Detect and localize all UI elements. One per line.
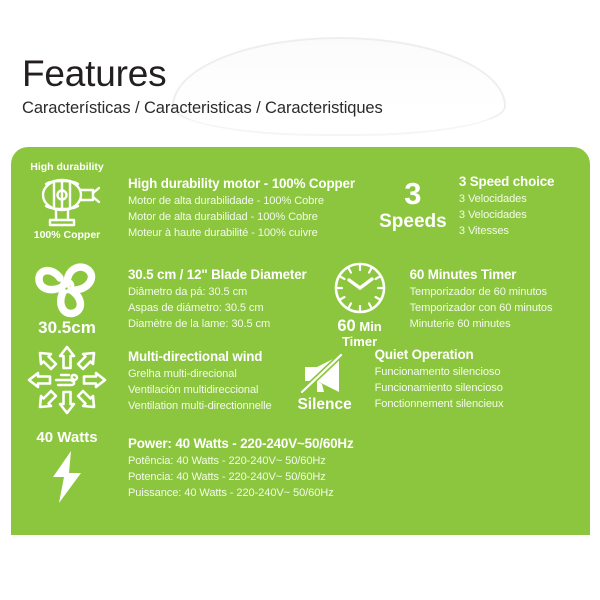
muted-megaphone-icon: Silence xyxy=(286,352,364,413)
feature-heading: Quiet Operation xyxy=(375,347,504,364)
feature-speed-text: 3 Speed choice 3 Velocidades 3 Velocidad… xyxy=(459,174,554,239)
feature-blade-text: 30.5 cm / 12" Blade Diameter Diâmetro da… xyxy=(128,267,307,332)
three-speeds-badge: 3 Speeds xyxy=(379,178,447,231)
page-subtitle: Características / Caracteristicas / Cara… xyxy=(22,99,578,118)
feature-power: 40 Watts Power: 40 Watts - 220-240V~50/6… xyxy=(19,430,354,504)
speeds-number: 3 xyxy=(379,178,447,209)
megaphone-glyph xyxy=(295,352,355,396)
feature-line-pt: 3 Velocidades xyxy=(459,191,554,207)
arrows-glyph xyxy=(26,344,108,416)
lightning-bolt-icon: 40 Watts xyxy=(19,430,115,504)
features-infographic: Features Características / Caracteristic… xyxy=(0,0,600,600)
feature-line-es: Temporizador con 60 minutos xyxy=(410,300,553,316)
feature-timer: 60 Min Timer 60 Minutes Timer Temporizad… xyxy=(321,260,553,348)
feature-silence: Silence Quiet Operation Funcionamento si… xyxy=(286,344,504,413)
feature-motor-text: High durability motor - 100% Copper Moto… xyxy=(128,176,355,241)
icon-caption-top: 40 Watts xyxy=(36,430,97,445)
electric-motor-glyph xyxy=(32,175,102,227)
feature-line-es: Funcionamiento silencioso xyxy=(375,380,504,396)
multi-direction-arrows-icon xyxy=(19,344,115,416)
feature-line-pt: Temporizador de 60 minutos xyxy=(410,284,553,300)
features-panel: High durability xyxy=(11,147,590,535)
feature-timer-text: 60 Minutes Timer Temporizador de 60 minu… xyxy=(410,267,553,332)
feature-line-es: 3 Velocidades xyxy=(459,207,554,223)
feature-line-pt: Diâmetro da pá: 30.5 cm xyxy=(128,284,307,300)
feature-heading: Power: 40 Watts - 220-240V~50/60Hz xyxy=(128,436,354,453)
feature-line-pt: Funcionamento silencioso xyxy=(375,364,504,380)
feature-speed: 3 Speeds 3 Speed choice 3 Velocidades 3 … xyxy=(379,162,554,239)
feature-line-pt: Potência: 40 Watts - 220-240V~ 50/60Hz xyxy=(128,453,354,469)
feature-heading: Multi-directional wind xyxy=(128,349,272,366)
feature-line-fr: Fonctionnement silencieux xyxy=(375,396,504,412)
feature-line-fr: Diamètre de la lame: 30.5 cm xyxy=(128,316,307,332)
feature-silence-text: Quiet Operation Funcionamento silencioso… xyxy=(375,347,504,412)
feature-row-power: 40 Watts Power: 40 Watts - 220-240V~50/6… xyxy=(19,430,354,504)
feature-heading: High durability motor - 100% Copper xyxy=(128,176,355,193)
fan-blade-glyph xyxy=(29,260,105,318)
feature-line-es: Potencia: 40 Watts - 220-240V~ 50/60Hz xyxy=(128,469,354,485)
feature-line-es: Aspas de diámetro: 30.5 cm xyxy=(128,300,307,316)
icon-caption-bottom: Silence xyxy=(297,397,351,413)
feature-blade: 30.5cm 30.5 cm / 12" Blade Diameter Diâm… xyxy=(19,260,307,336)
icon-caption-top: High durability xyxy=(30,162,104,173)
feature-power-text: Power: 40 Watts - 220-240V~50/60Hz Potên… xyxy=(128,436,354,501)
bolt-glyph xyxy=(47,450,87,504)
speeds-word: Speeds xyxy=(379,212,447,231)
clock-timer-icon: 60 Min Timer xyxy=(321,260,399,348)
electric-motor-icon: High durability xyxy=(19,162,115,240)
page-header: Features Características / Caracteristic… xyxy=(22,55,578,118)
feature-motor: High durability xyxy=(19,162,355,241)
feature-line-pt: Grelha multi-direcional xyxy=(128,366,272,382)
feature-row-motor: High durability xyxy=(19,162,554,241)
feature-line-fr: Moteur à haute durabilité - 100% cuivre xyxy=(128,225,355,241)
feature-line-fr: Puissance: 40 Watts - 220-240V~ 50/60Hz xyxy=(128,485,354,501)
feature-line-fr: Ventilation multi-directionnelle xyxy=(128,398,272,414)
feature-row-wind: Multi-directional wind Grelha multi-dire… xyxy=(19,344,503,416)
feature-wind-text: Multi-directional wind Grelha multi-dire… xyxy=(128,349,272,414)
clock-glyph xyxy=(329,260,391,316)
feature-line-es: Ventilación multidireccional xyxy=(128,382,272,398)
feature-line-fr: Minuterie 60 minutes xyxy=(410,316,553,332)
page-title: Features xyxy=(22,55,578,92)
feature-row-blade: 30.5cm 30.5 cm / 12" Blade Diameter Diâm… xyxy=(19,260,552,348)
feature-heading: 3 Speed choice xyxy=(459,174,554,191)
icon-caption-bottom: 30.5cm xyxy=(38,319,96,336)
feature-line-es: Motor de alta durabilidad - 100% Cobre xyxy=(128,209,355,225)
feature-line-pt: Motor de alta durabilidade - 100% Cobre xyxy=(128,193,355,209)
feature-heading: 60 Minutes Timer xyxy=(410,267,553,284)
feature-heading: 30.5 cm / 12" Blade Diameter xyxy=(128,267,307,284)
timer-minutes-unit: Min xyxy=(359,319,381,334)
fan-blade-icon: 30.5cm xyxy=(19,260,115,336)
icon-caption-bottom: 100% Copper xyxy=(34,230,101,241)
feature-wind: Multi-directional wind Grelha multi-dire… xyxy=(19,344,272,416)
feature-line-fr: 3 Vitesses xyxy=(459,223,554,239)
timer-minutes-value: 60 xyxy=(337,317,355,335)
